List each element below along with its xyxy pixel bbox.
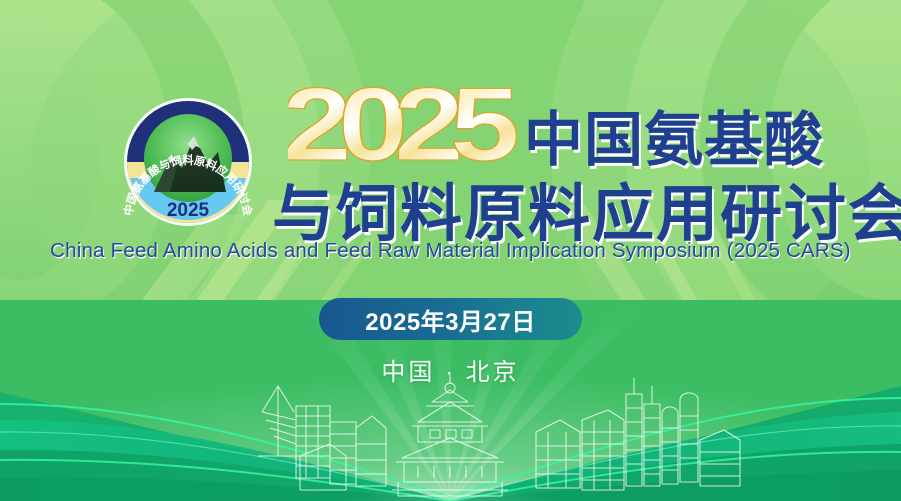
year-numerals: 2 0 2 5 — [288, 78, 528, 174]
conference-emblem-icon: 中国氨基酸与饲料原料应用研讨会 2025 — [112, 92, 264, 232]
conference-banner: 中国氨基酸与饲料原料应用研讨会 2025 2 0 2 5 — [0, 0, 901, 501]
logo-year-text: 2025 — [167, 200, 210, 221]
location-label: 中国 · 北京 — [0, 352, 901, 387]
date-badge: 2025年3月27日 — [319, 298, 582, 340]
english-subtitle: China Feed Amino Acids and Feed Raw Mate… — [0, 239, 901, 263]
svg-text:5: 5 — [450, 78, 520, 174]
date-badge-label: 2025年3月27日 — [365, 302, 535, 337]
